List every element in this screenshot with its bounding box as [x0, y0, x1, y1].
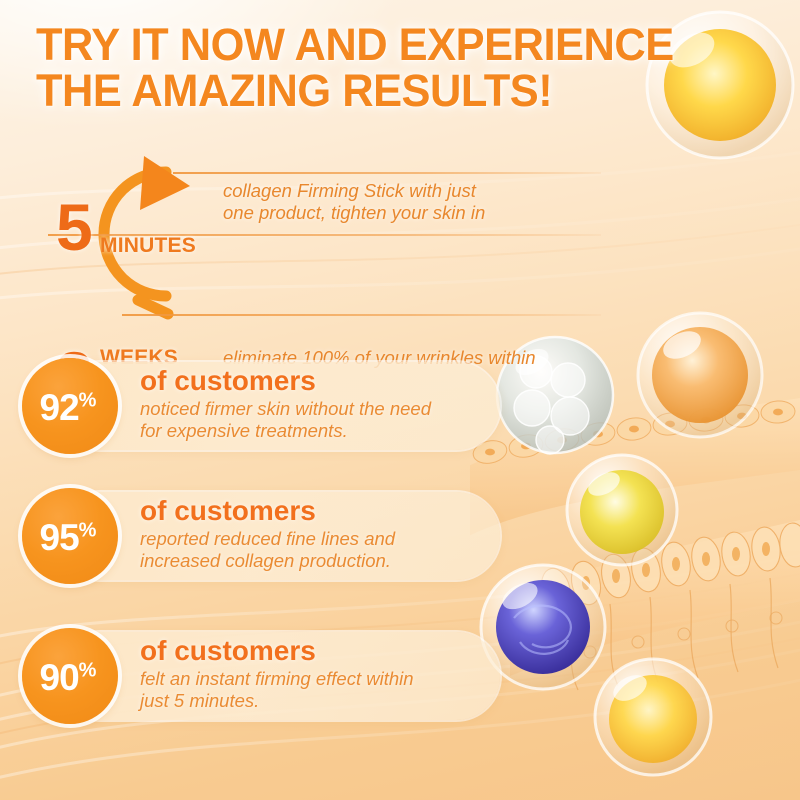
- stat-heading: of customers: [140, 366, 500, 396]
- stat-percent-badge: 90%: [22, 628, 118, 724]
- headline-line-2: THE AMAZING RESULTS!: [36, 68, 731, 114]
- honeycomb-serum-sphere-bottom: [595, 659, 711, 775]
- stat-heading: of customers: [140, 496, 500, 526]
- stat-row: 92% of customers noticed firmer skin wit…: [22, 358, 500, 454]
- headline-line-1: TRY IT NOW AND EXPERIENCE: [36, 22, 731, 68]
- stat-description: noticed firmer skin without the need for…: [140, 398, 500, 442]
- decorative-artwork: [470, 0, 800, 800]
- stat-percent-badge: 95%: [22, 488, 118, 584]
- timing-row-weeks: 3 WEEKS eliminate 100% of your wrinkles …: [18, 234, 618, 320]
- stat-description: reported reduced fine lines and increase…: [140, 528, 500, 572]
- stat-row: 95% of customers reported reduced fine l…: [22, 488, 500, 584]
- stat-percent-value: 95%: [40, 519, 97, 556]
- timing-block: 5 MINUTES collagen Firming Stick with ju…: [18, 148, 618, 320]
- stat-row: 90% of customers felt an instant firming…: [22, 628, 500, 724]
- advertisement-canvas: TRY IT NOW AND EXPERIENCE THE AMAZING RE…: [0, 0, 800, 800]
- amber-serum-sphere: [638, 313, 762, 437]
- stat-text: of customers reported reduced fine lines…: [140, 496, 500, 573]
- stat-percent-badge: 92%: [22, 358, 118, 454]
- stat-percent-value: 90%: [40, 659, 97, 696]
- stat-heading: of customers: [140, 636, 500, 666]
- yellow-oil-sphere: [567, 455, 677, 565]
- stat-percent-value: 92%: [40, 389, 97, 426]
- stat-description: felt an instant firming effect within ju…: [140, 668, 500, 712]
- timing-row-minutes: 5 MINUTES collagen Firming Stick with ju…: [18, 148, 618, 234]
- skin-cell-illustration: [470, 398, 800, 690]
- headline: TRY IT NOW AND EXPERIENCE THE AMAZING RE…: [36, 22, 731, 114]
- stat-text: of customers felt an instant firming eff…: [140, 636, 500, 713]
- minutes-copy: collagen Firming Stick with just one pro…: [223, 180, 485, 224]
- timing-rows: 5 MINUTES collagen Firming Stick with ju…: [18, 148, 618, 320]
- stat-text: of customers noticed firmer skin without…: [140, 366, 500, 443]
